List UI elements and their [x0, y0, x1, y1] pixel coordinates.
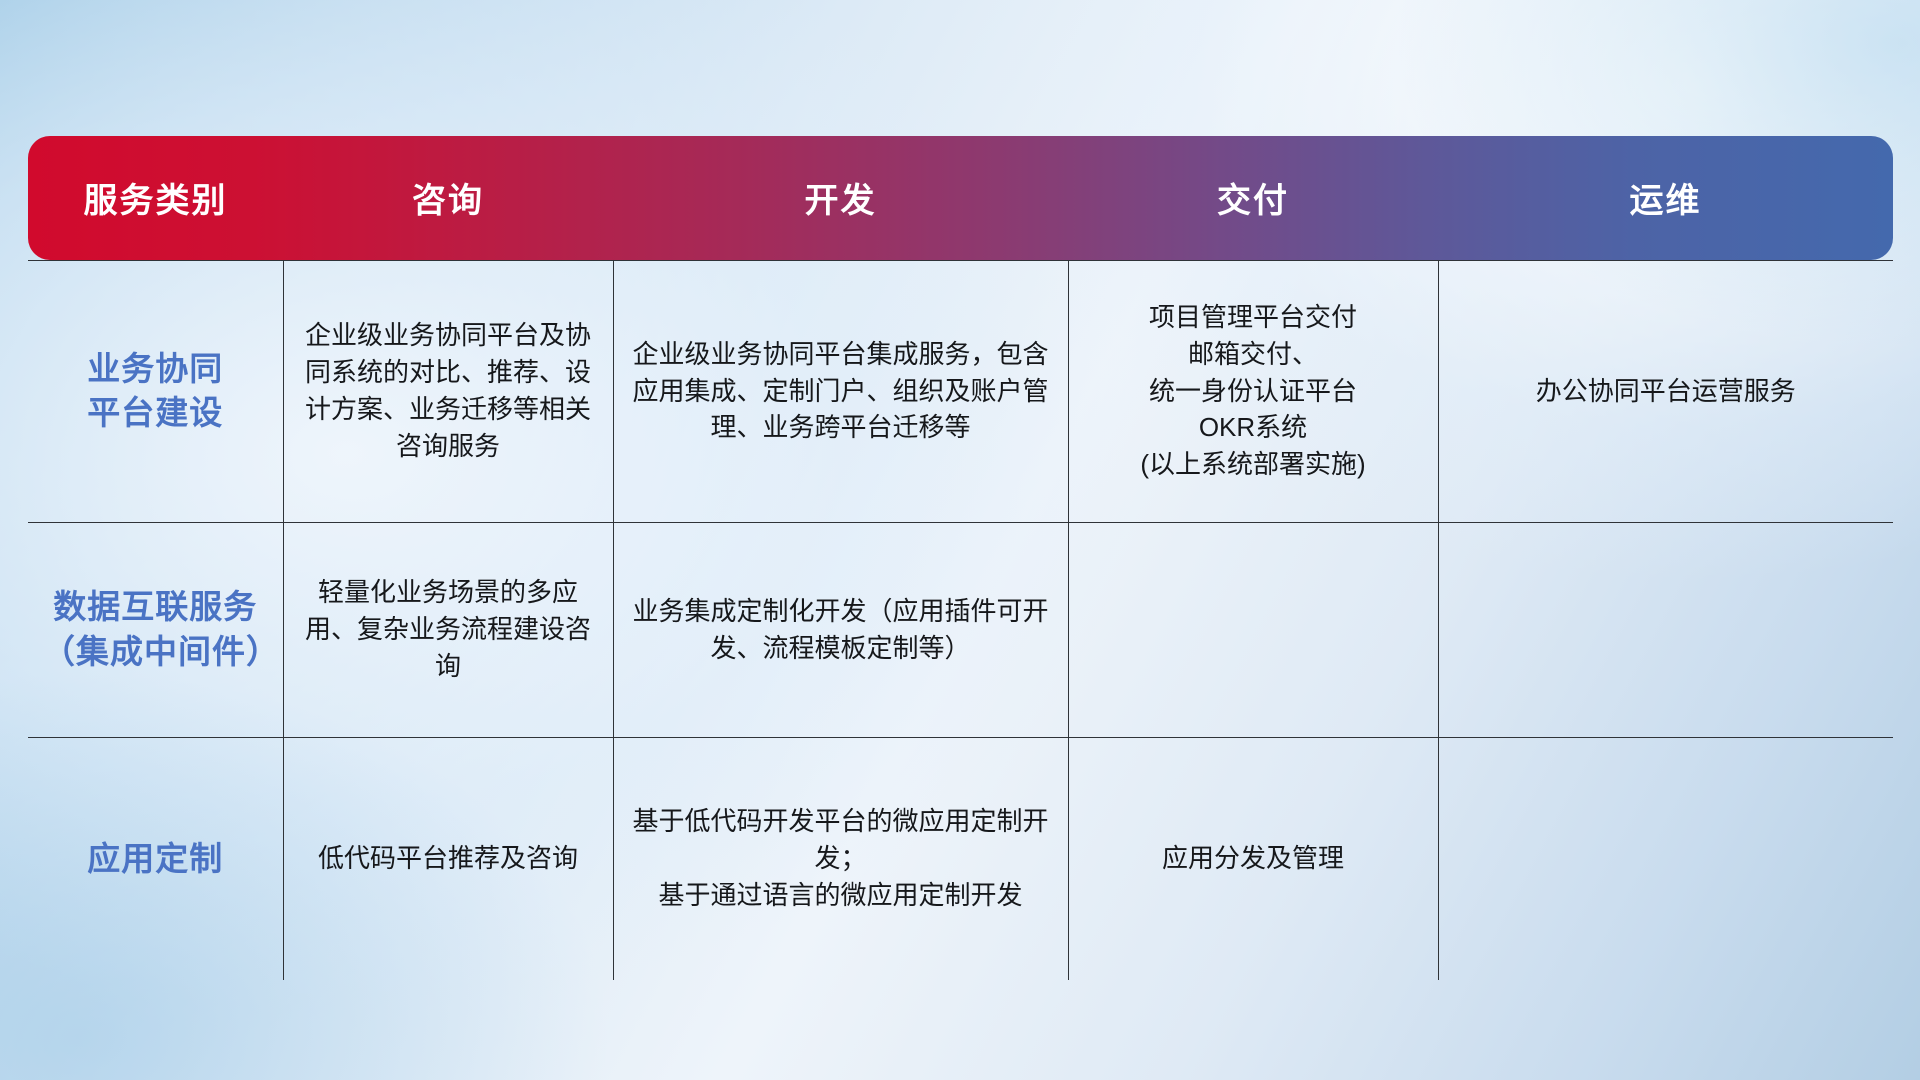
cell-consulting-row2: 轻量化业务场景的多应用、复杂业务流程建设咨询	[283, 522, 613, 737]
row-label-data-interconnect-service: 数据互联服务 （集成中间件）	[28, 522, 283, 737]
table-header: 服务类别 咨询 开发 交付 运维	[28, 136, 1893, 260]
column-header-operations: 运维	[1438, 136, 1893, 260]
service-category-table-wrapper: 服务类别 咨询 开发 交付 运维 业务协同 平台建设 企业级业务协同平台及协同系…	[28, 136, 1893, 956]
column-header-service-category: 服务类别	[28, 136, 283, 260]
table-row: 数据互联服务 （集成中间件） 轻量化业务场景的多应用、复杂业务流程建设咨询 业务…	[28, 522, 1893, 737]
cell-delivery-row1: 项目管理平台交付 邮箱交付、 统一身份认证平台 OKR系统 (以上系统部署实施)	[1068, 260, 1438, 522]
cell-operations-row1: 办公协同平台运营服务	[1438, 260, 1893, 522]
column-header-delivery: 交付	[1068, 136, 1438, 260]
table-body: 业务协同 平台建设 企业级业务协同平台及协同系统的对比、推荐、设计方案、业务迁移…	[28, 260, 1893, 980]
cell-development-row1: 企业级业务协同平台集成服务，包含应用集成、定制门户、组织及账户管理、业务跨平台迁…	[613, 260, 1068, 522]
cell-consulting-row1: 企业级业务协同平台及协同系统的对比、推荐、设计方案、业务迁移等相关咨询服务	[283, 260, 613, 522]
column-header-development: 开发	[613, 136, 1068, 260]
row-label-business-collaboration-platform: 业务协同 平台建设	[28, 260, 283, 522]
row-label-application-customization: 应用定制	[28, 737, 283, 980]
cell-operations-row2	[1438, 522, 1893, 737]
cell-delivery-row2	[1068, 522, 1438, 737]
cell-consulting-row3: 低代码平台推荐及咨询	[283, 737, 613, 980]
cell-delivery-row3: 应用分发及管理	[1068, 737, 1438, 980]
cell-operations-row3	[1438, 737, 1893, 980]
cell-development-row3: 基于低代码开发平台的微应用定制开发； 基于通过语言的微应用定制开发	[613, 737, 1068, 980]
cell-development-row2: 业务集成定制化开发（应用插件可开发、流程模板定制等）	[613, 522, 1068, 737]
column-header-consulting: 咨询	[283, 136, 613, 260]
table-row: 业务协同 平台建设 企业级业务协同平台及协同系统的对比、推荐、设计方案、业务迁移…	[28, 260, 1893, 522]
service-category-table: 服务类别 咨询 开发 交付 运维 业务协同 平台建设 企业级业务协同平台及协同系…	[28, 136, 1893, 980]
table-row: 应用定制 低代码平台推荐及咨询 基于低代码开发平台的微应用定制开发； 基于通过语…	[28, 737, 1893, 980]
table-header-row: 服务类别 咨询 开发 交付 运维	[28, 136, 1893, 260]
